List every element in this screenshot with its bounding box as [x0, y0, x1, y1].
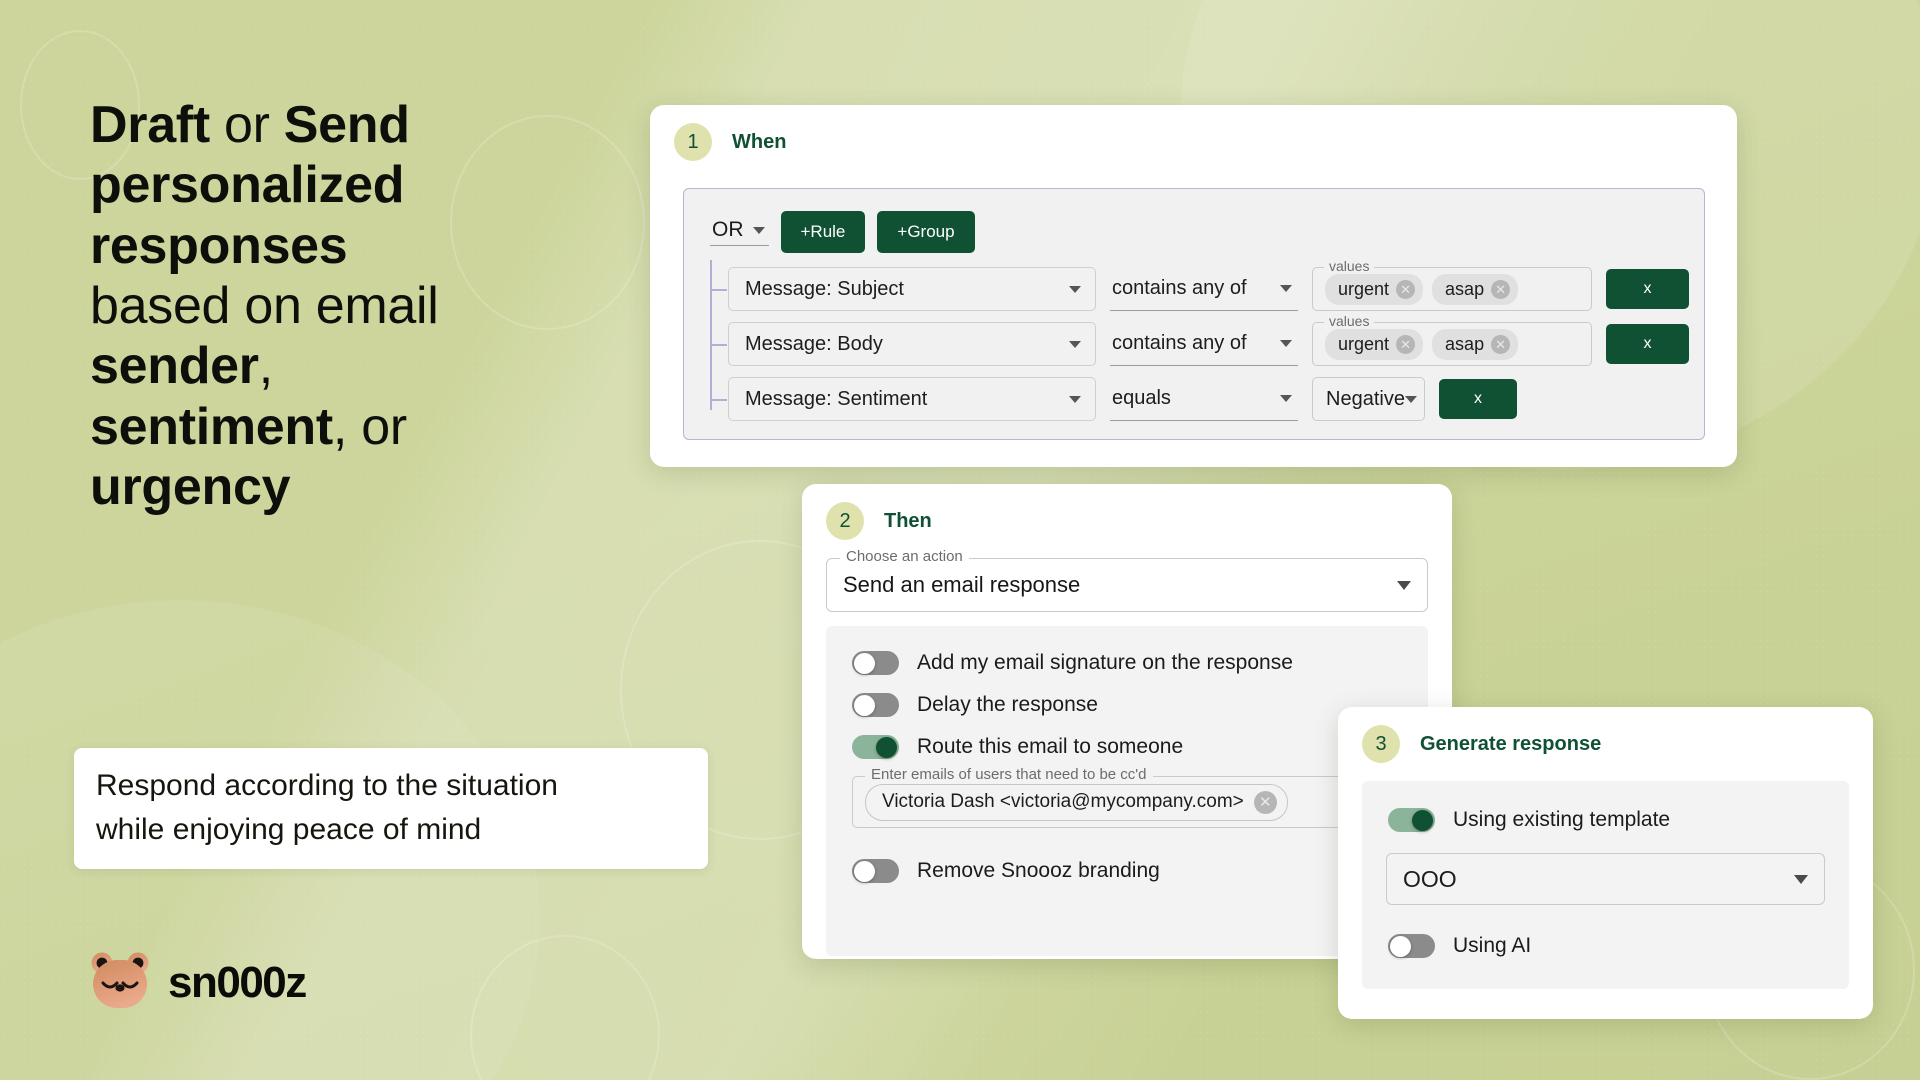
callout-line-2: while enjoying peace of mind	[96, 808, 686, 852]
close-icon[interactable]: ✕	[1396, 280, 1415, 299]
value-chip[interactable]: asap ✕	[1432, 329, 1518, 360]
rule-values-field[interactable]: values urgent ✕ asap ✕	[1312, 267, 1592, 311]
rule-value-selected: Negative	[1326, 388, 1405, 411]
step-badge-1: 1	[674, 123, 712, 161]
hero-word-sender: sender	[90, 337, 259, 395]
toggle-knob	[1390, 936, 1411, 957]
hero-line-5: sender,	[90, 336, 650, 396]
toggle-label: Delay the response	[917, 693, 1098, 717]
toggle-switch[interactable]	[852, 859, 899, 883]
rule-field-value: Message: Sentiment	[745, 388, 927, 411]
hero-word-send: Send	[284, 96, 410, 154]
toggle-switch[interactable]	[1388, 808, 1435, 832]
table-row: Message: Sentiment equals Negative x	[684, 377, 1704, 421]
remove-rule-button[interactable]: x	[1606, 324, 1689, 364]
logo-wordmark: sn000z	[168, 958, 306, 1008]
card-when-header: 1 When	[650, 105, 1737, 173]
toggle-knob	[1412, 810, 1433, 831]
remove-rule-button[interactable]: x	[1439, 379, 1517, 419]
logic-operator-value: OR	[712, 218, 744, 242]
hero-word-sentiment: sentiment	[90, 398, 333, 456]
hero-word-draft: Draft	[90, 96, 210, 154]
rule-field-value: Message: Body	[745, 333, 883, 356]
hero-line-7: urgency	[90, 457, 650, 517]
chevron-down-icon	[1280, 340, 1292, 347]
toggle-row-template[interactable]: Using existing template	[1362, 799, 1849, 841]
value-chip[interactable]: urgent ✕	[1325, 274, 1423, 305]
step-badge-2: 2	[826, 502, 864, 540]
hero-word-or: or	[210, 96, 284, 154]
action-select-value: Send an email response	[843, 572, 1080, 598]
card-generate-header: 3 Generate response	[1338, 707, 1873, 775]
value-chip[interactable]: asap ✕	[1432, 274, 1518, 305]
rule-operator-select[interactable]: contains any of	[1110, 267, 1298, 311]
template-select-value: OOO	[1403, 866, 1457, 893]
chevron-down-icon	[1069, 341, 1081, 348]
rule-list: Message: Subject contains any of values …	[684, 267, 1704, 421]
toggle-label: Route this email to someone	[917, 735, 1183, 759]
add-rule-button[interactable]: +Rule	[781, 211, 866, 253]
callout-line-1: Respond according to the situation	[96, 764, 686, 808]
page-title: Draft or Send personalized responses bas…	[90, 95, 650, 517]
callout-box: Respond according to the situation while…	[74, 748, 708, 869]
chevron-down-icon	[1069, 396, 1081, 403]
hero-line-2: personalized	[90, 155, 650, 215]
chevron-down-icon	[1280, 395, 1292, 402]
close-icon[interactable]: ✕	[1491, 335, 1510, 354]
hero-line-1: Draft or Send	[90, 95, 650, 155]
chevron-down-icon	[1069, 286, 1081, 293]
logic-operator-select[interactable]: OR	[710, 218, 769, 246]
cc-emails-legend: Enter emails of users that need to be cc…	[865, 766, 1153, 783]
toggle-label: Add my email signature on the response	[917, 651, 1293, 675]
rule-operator-value: contains any of	[1112, 277, 1247, 300]
table-row: Message: Body contains any of values urg…	[684, 322, 1704, 366]
card-generate-response: 3 Generate response Using existing templ…	[1338, 707, 1873, 1019]
rule-field-value: Message: Subject	[745, 278, 904, 301]
toggle-switch[interactable]	[1388, 934, 1435, 958]
toggle-knob	[854, 695, 875, 716]
toggle-knob	[854, 653, 875, 674]
remove-rule-button[interactable]: x	[1606, 269, 1689, 309]
rule-values-field[interactable]: values urgent ✕ asap ✕	[1312, 322, 1592, 366]
toggle-label: Using existing template	[1453, 808, 1670, 832]
brand-logo: sn000z	[88, 950, 306, 1015]
toggle-switch[interactable]	[852, 693, 899, 717]
rule-tree-branch	[710, 344, 727, 346]
value-chip-label: asap	[1445, 334, 1484, 355]
close-icon[interactable]: ✕	[1396, 335, 1415, 354]
rule-field-select[interactable]: Message: Sentiment	[728, 377, 1096, 421]
generate-options-panel: Using existing template OOO Using AI	[1362, 781, 1849, 989]
toggle-switch[interactable]	[852, 735, 899, 759]
rule-tree-branch	[710, 289, 727, 291]
value-chip[interactable]: urgent ✕	[1325, 329, 1423, 360]
hero-line-6: sentiment, or	[90, 397, 650, 457]
rule-tree-branch	[710, 399, 727, 401]
rule-value-select[interactable]: Negative	[1312, 377, 1425, 421]
chevron-down-icon	[1397, 581, 1411, 590]
hero-line-3: responses	[90, 216, 650, 276]
cc-recipient-label: Victoria Dash <victoria@mycompany.com>	[882, 791, 1244, 813]
chevron-down-icon	[1794, 875, 1808, 884]
close-icon[interactable]: ✕	[1254, 791, 1277, 814]
rule-operator-value: contains any of	[1112, 332, 1247, 355]
chevron-down-icon	[1280, 285, 1292, 292]
value-chip-label: urgent	[1338, 334, 1389, 355]
rule-field-select[interactable]: Message: Subject	[728, 267, 1096, 311]
toggle-label: Using AI	[1453, 934, 1531, 958]
rule-operator-select[interactable]: equals	[1110, 377, 1298, 421]
toggle-knob	[876, 737, 897, 758]
add-group-button[interactable]: +Group	[877, 211, 974, 253]
rule-operator-value: equals	[1112, 387, 1171, 410]
card-when: 1 When OR +Rule +Group Message: Subject …	[650, 105, 1737, 467]
action-select[interactable]: Choose an action Send an email response	[826, 558, 1428, 612]
value-chip-label: urgent	[1338, 279, 1389, 300]
cc-emails-input[interactable]: Enter emails of users that need to be cc…	[852, 776, 1404, 828]
card-generate-title: Generate response	[1420, 733, 1601, 756]
card-then-header: 2 Then	[802, 484, 1452, 552]
rule-group-toolbar: OR +Rule +Group	[684, 189, 1704, 253]
toggle-label: Remove Snoooz branding	[917, 859, 1160, 883]
chevron-down-icon	[1405, 396, 1417, 403]
cc-recipient-chip[interactable]: Victoria Dash <victoria@mycompany.com> ✕	[865, 784, 1288, 821]
toggle-row-signature[interactable]: Add my email signature on the response	[826, 642, 1428, 684]
template-select[interactable]: OOO	[1386, 853, 1825, 905]
action-select-legend: Choose an action	[840, 548, 969, 565]
rule-field-select[interactable]: Message: Body	[728, 322, 1096, 366]
bear-face-icon	[88, 950, 152, 1015]
rule-operator-select[interactable]: contains any of	[1110, 322, 1298, 366]
card-then-title: Then	[884, 510, 932, 533]
toggle-row-using-ai[interactable]: Using AI	[1362, 925, 1849, 967]
values-legend: values	[1324, 258, 1374, 274]
table-row: Message: Subject contains any of values …	[684, 267, 1704, 311]
toggle-switch[interactable]	[852, 651, 899, 675]
chevron-down-icon	[753, 227, 765, 234]
value-chip-label: asap	[1445, 279, 1484, 300]
rule-group: OR +Rule +Group Message: Subject contain…	[683, 188, 1705, 440]
step-badge-3: 3	[1362, 725, 1400, 763]
hero-line-4: based on email	[90, 276, 650, 336]
close-icon[interactable]: ✕	[1491, 280, 1510, 299]
card-when-title: When	[732, 131, 786, 154]
toggle-knob	[854, 861, 875, 882]
values-legend: values	[1324, 313, 1374, 329]
hero-comma-1: ,	[259, 337, 273, 395]
hero-comma-2: , or	[333, 398, 407, 456]
